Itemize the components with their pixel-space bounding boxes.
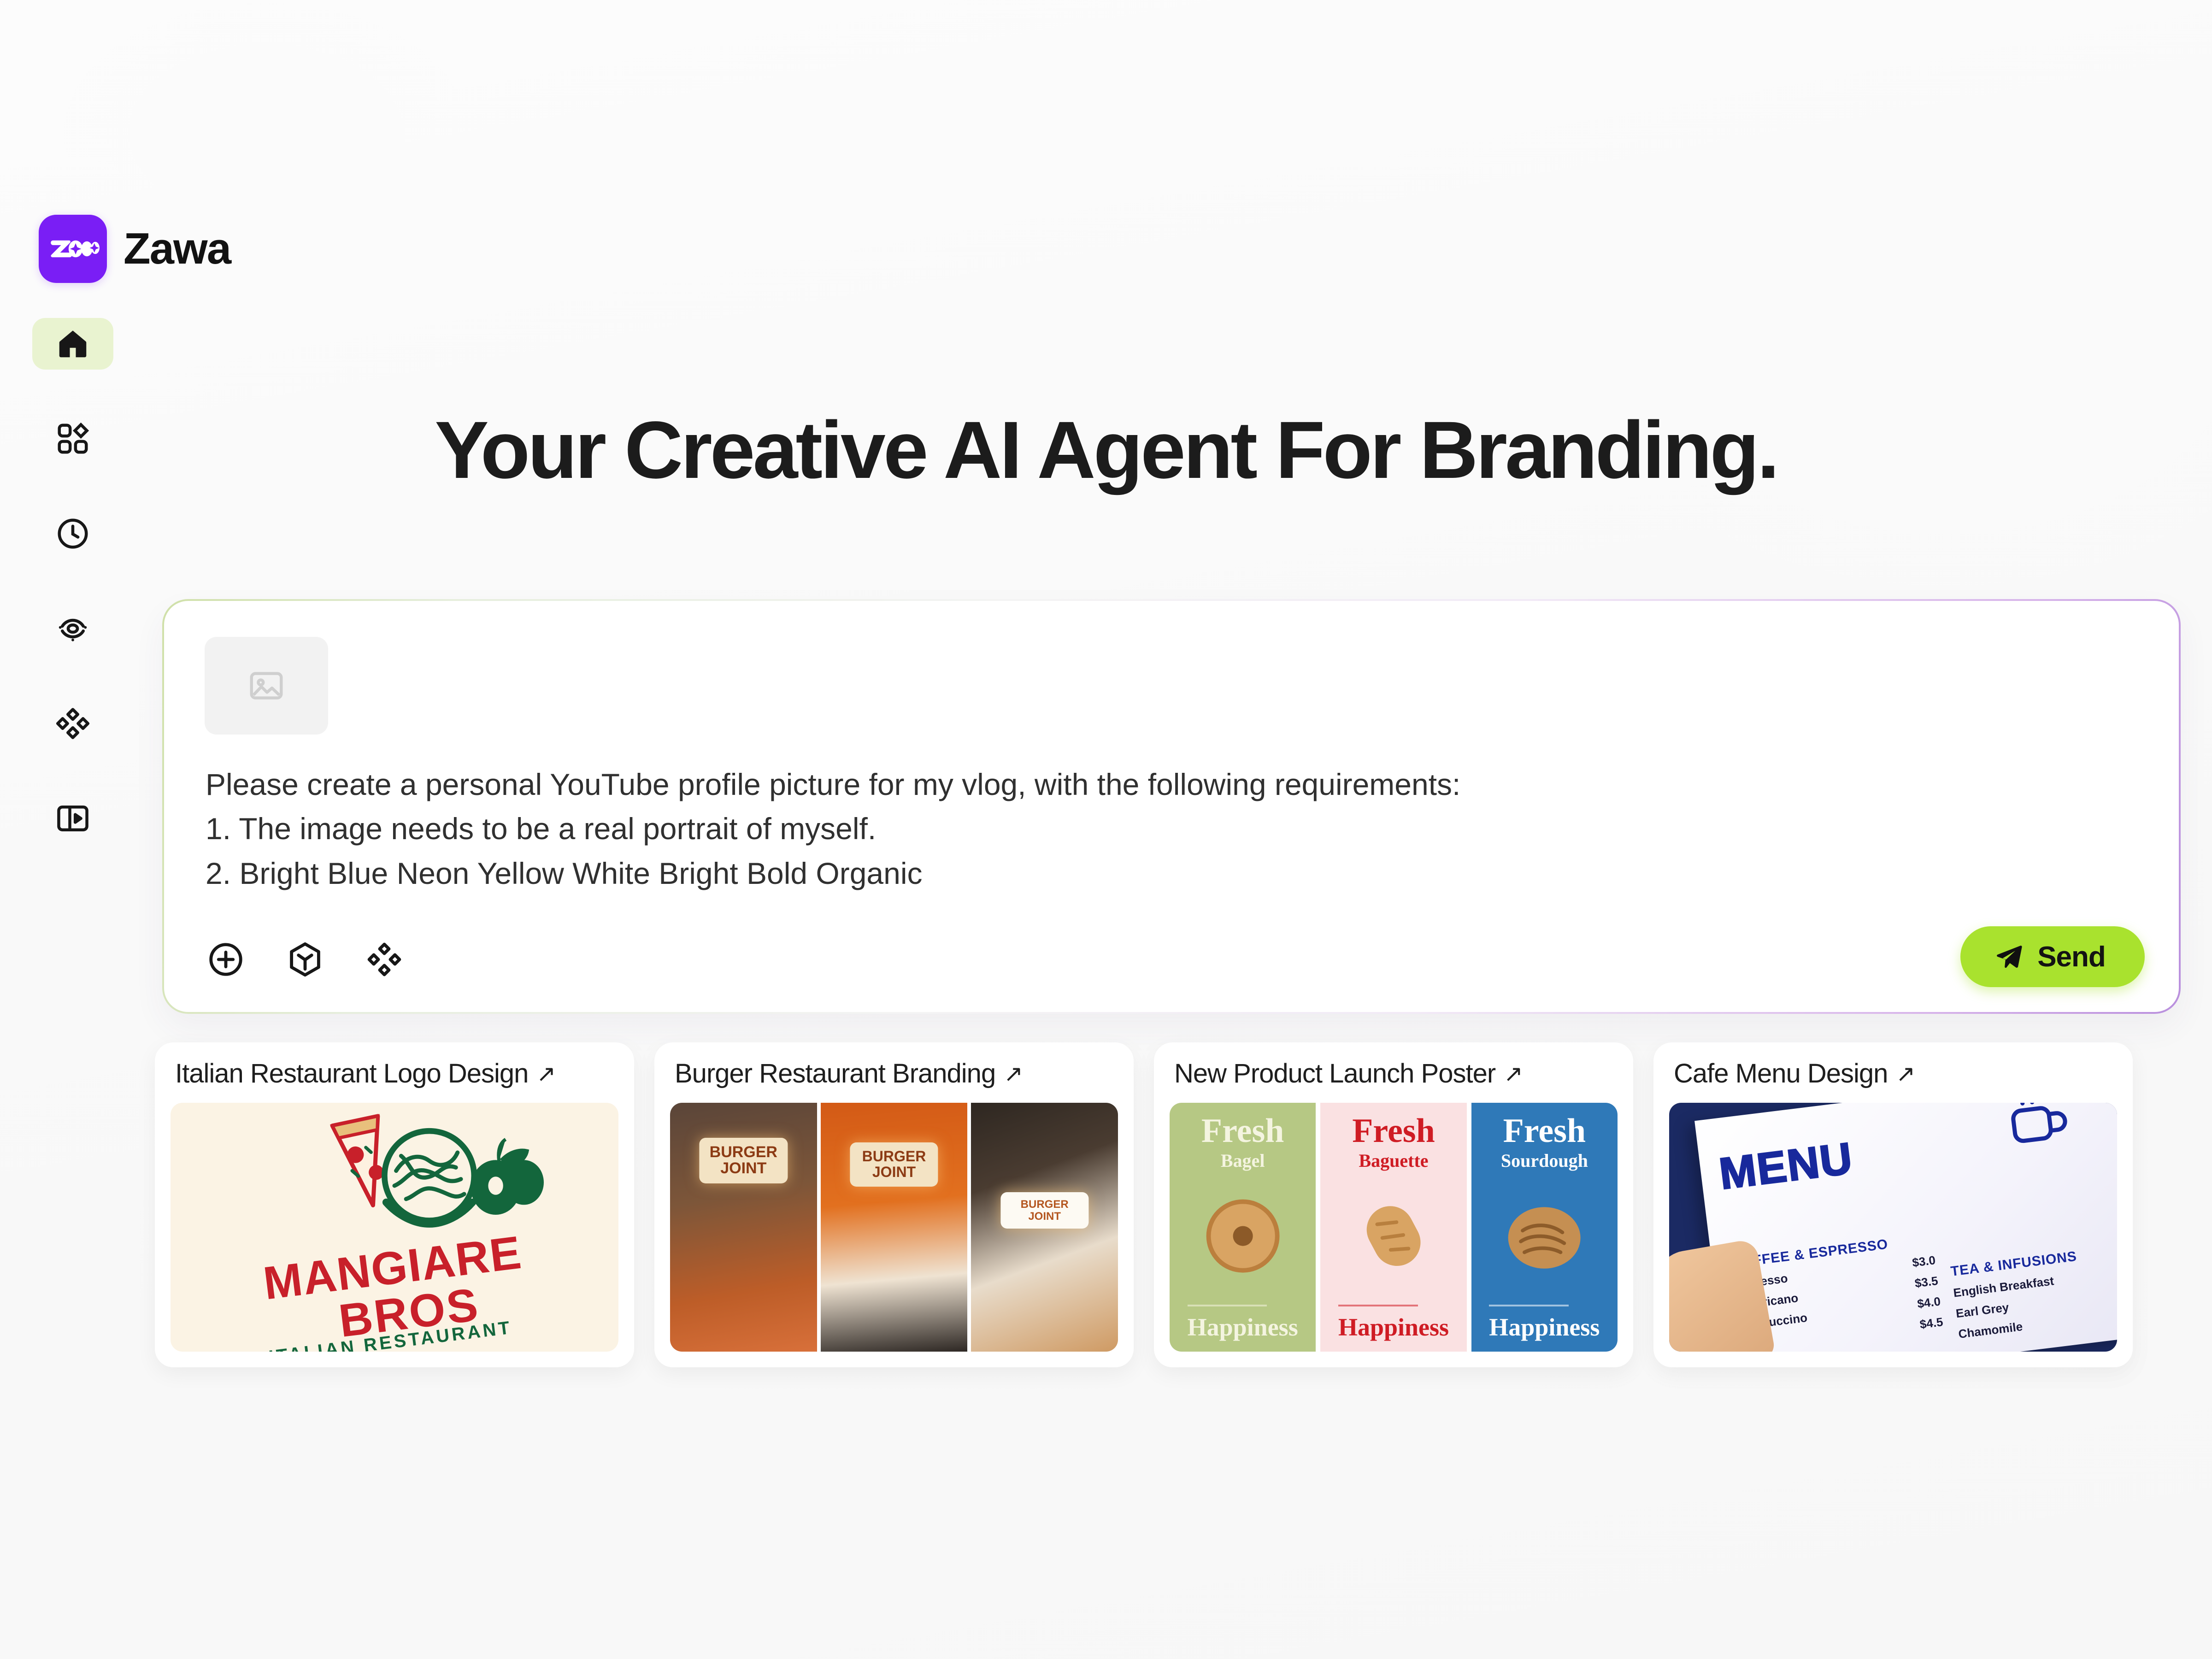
enhance-prompt-button[interactable] (363, 938, 406, 981)
poster-word: Fresh (1352, 1115, 1435, 1147)
baguette-image (1348, 1181, 1439, 1291)
sparkle-diamond-icon (365, 940, 404, 979)
sidebar-item-home[interactable] (32, 318, 113, 370)
external-link-arrow-icon: ↗ (1896, 1060, 1915, 1087)
poster-sourdough: Fresh Sourdough Happiness (1471, 1103, 1618, 1352)
sourdough-image (1499, 1181, 1589, 1291)
card-title-label: Cafe Menu Design (1674, 1058, 1888, 1089)
card-title: Burger Restaurant Branding ↗ (654, 1058, 1134, 1103)
prompt-input[interactable]: Please create a personal YouTube profile… (206, 762, 2110, 895)
page-title: Your Creative AI Agent For Branding. (0, 408, 2212, 493)
target-focus-icon (55, 611, 91, 647)
attachment-thumbnail[interactable] (205, 637, 328, 735)
diamond-cluster-icon (55, 706, 91, 741)
poster-kind: Baguette (1352, 1150, 1435, 1171)
burger-sign-line2: JOINT (1003, 1211, 1086, 1222)
home-icon (55, 326, 91, 362)
bagel-image (1198, 1181, 1288, 1291)
poster-kind: Bagel (1201, 1150, 1284, 1171)
poster-foot: Happiness (1188, 1313, 1298, 1341)
brand-name: Zawa (124, 227, 230, 271)
panel-layout-icon (55, 800, 91, 836)
sidebar-item-creations[interactable] (32, 698, 113, 749)
external-link-arrow-icon: ↗ (1004, 1060, 1023, 1087)
card-title-label: Burger Restaurant Branding (675, 1058, 995, 1089)
plus-circle-icon (206, 940, 246, 979)
gallery-card-product-poster[interactable]: New Product Launch Poster ↗ Fresh Bagel … (1154, 1042, 1633, 1367)
burger-sign-line2: JOINT (702, 1160, 785, 1177)
prompt-composer: Please create a personal YouTube profile… (162, 599, 2181, 1014)
burger-sign-line1: BURGER (853, 1149, 935, 1165)
card-thumbnail-fresh-posters: Fresh Bagel Happiness Fresh Baguette (1170, 1103, 1618, 1352)
poster-baguette: Fresh Baguette Happiness (1320, 1103, 1466, 1352)
card-title: New Product Launch Poster ↗ (1154, 1058, 1633, 1103)
brand-header: Zawa (39, 215, 230, 283)
poster-kind: Sourdough (1501, 1150, 1588, 1171)
cube-3d-icon (285, 940, 325, 979)
add-attachment-button[interactable] (205, 938, 247, 981)
card-title-label: New Product Launch Poster (1174, 1058, 1495, 1089)
poster-foot: Happiness (1489, 1313, 1600, 1341)
poster-foot: Happiness (1338, 1313, 1449, 1341)
zawa-logo-icon[interactable] (39, 215, 107, 283)
burger-sign-line2: JOINT (853, 1165, 935, 1180)
poster-word: Fresh (1501, 1115, 1588, 1147)
poster-bagel: Fresh Bagel Happiness (1170, 1103, 1316, 1352)
card-title-label: Italian Restaurant Logo Design (175, 1058, 528, 1089)
card-thumbnail-cafe-menu: MENU COFFEE & ESPRESSO Espresso $3.0 Ame… (1669, 1103, 2117, 1352)
card-thumbnail-italian: MANGIARE BROS ITALIAN RESTAURANT (171, 1103, 618, 1352)
external-link-arrow-icon: ↗ (1504, 1060, 1523, 1087)
sidebar (32, 318, 113, 888)
gallery-card-cafe-menu[interactable]: Cafe Menu Design ↗ MENU COFFEE & ESPRESS… (1653, 1042, 2133, 1367)
card-title: Cafe Menu Design ↗ (1653, 1058, 2133, 1103)
example-gallery: Italian Restaurant Logo Design ↗ (155, 1042, 2133, 1367)
card-title: Italian Restaurant Logo Design ↗ (155, 1058, 634, 1103)
sidebar-item-explore[interactable] (32, 603, 113, 654)
poster-word: Fresh (1201, 1115, 1284, 1147)
card-thumbnail-burger: BURGER JOINT BURGER JOINT BURGER JOINT (670, 1103, 1118, 1352)
gallery-card-italian-logo[interactable]: Italian Restaurant Logo Design ↗ (155, 1042, 634, 1367)
clock-history-icon (55, 516, 91, 552)
coffee-cup-icon (2000, 1103, 2078, 1162)
send-plane-icon (1994, 942, 2024, 971)
composer-toolbar (205, 938, 406, 981)
menu-section-tea: TEA & INFUSIONS English Breakfast $3.0 E… (1950, 1241, 2117, 1342)
sidebar-item-workspace[interactable] (32, 793, 113, 844)
send-button[interactable]: Send (1960, 926, 2145, 987)
image-placeholder-icon (247, 666, 286, 706)
gallery-card-burger-branding[interactable]: Burger Restaurant Branding ↗ BURGER JOIN… (654, 1042, 1134, 1367)
send-button-label: Send (2037, 941, 2106, 973)
external-link-arrow-icon: ↗ (536, 1060, 555, 1087)
burger-sign-line1: BURGER (702, 1144, 785, 1161)
sidebar-item-history[interactable] (32, 508, 113, 559)
model-picker-button[interactable] (284, 938, 326, 981)
burger-sign-line1: BURGER (1003, 1199, 1086, 1210)
